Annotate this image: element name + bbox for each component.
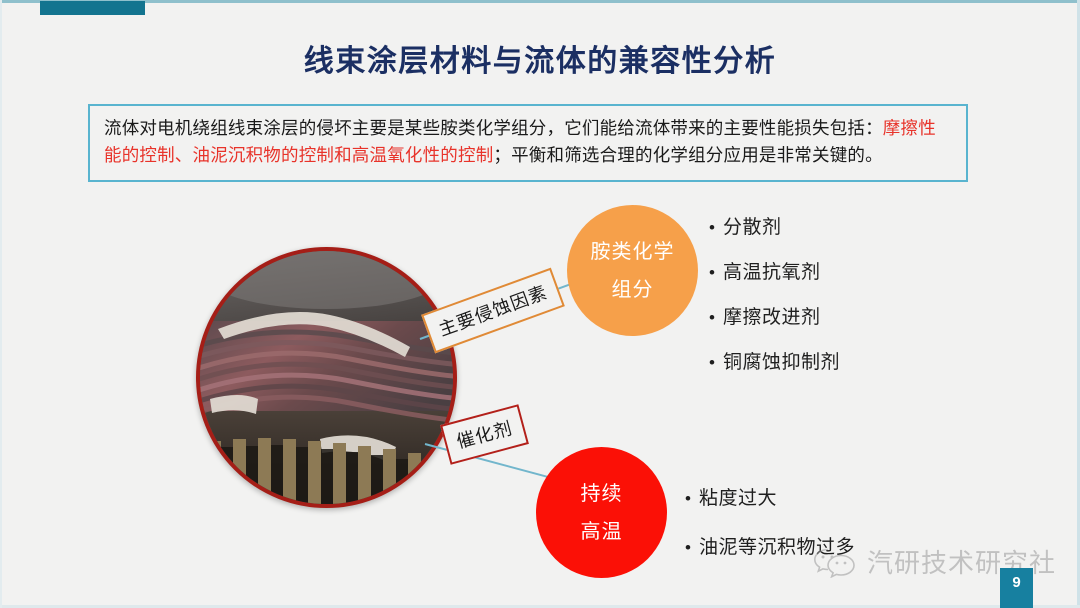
- winding-photo-graphic: [200, 251, 453, 504]
- label-catalyst: 催化剂: [440, 404, 529, 465]
- list-item-label: 粘度过大: [699, 483, 777, 510]
- left-border-rule: [0, 0, 2, 608]
- list-item-label: 铜腐蚀抑制剂: [723, 347, 840, 374]
- node-heat-line1: 持续: [581, 475, 623, 513]
- summary-callout-box: 流体对电机绕组线束涂层的侵坏主要是某些胺类化学组分，它们能给流体带来的主要性能损…: [88, 104, 968, 182]
- bullet-dot-icon: •: [685, 490, 699, 507]
- list-item: • 分散剂: [709, 212, 840, 239]
- bullet-dot-icon: •: [709, 264, 723, 281]
- page-number-badge: 9: [1000, 568, 1033, 608]
- node-heat-line2: 高温: [581, 513, 623, 551]
- node-amine-line1: 胺类化学: [591, 233, 675, 271]
- damaged-winding-photo: [196, 247, 457, 508]
- bullet-dot-icon: •: [709, 219, 723, 236]
- list-item: • 粘度过大: [685, 483, 855, 510]
- top-border-rule: [0, 0, 1080, 3]
- list-item-label: 分散剂: [723, 212, 782, 239]
- list-item: • 铜腐蚀抑制剂: [709, 347, 840, 374]
- callout-text-part2: ；平衡和筛选合理的化学组分应用是非常关键的。: [493, 145, 882, 165]
- wechat-icon: [812, 546, 858, 578]
- bullet-dot-icon: •: [709, 309, 723, 326]
- list-item-label: 高温抗氧剂: [723, 257, 821, 284]
- callout-text-part1: 流体对电机绕组线束涂层的侵坏主要是某些胺类化学组分，它们能给流体带来的主要性能损…: [104, 118, 883, 138]
- list-item: • 摩擦改进剂: [709, 302, 840, 329]
- label-main-erosion-factor: 主要侵蚀因素: [421, 268, 565, 354]
- bullet-dot-icon: •: [709, 354, 723, 371]
- list-item: • 高温抗氧剂: [709, 257, 840, 284]
- node-amine-line2: 组分: [612, 271, 654, 309]
- bullet-list-amine: • 分散剂 • 高温抗氧剂 • 摩擦改进剂 • 铜腐蚀抑制剂: [709, 212, 840, 374]
- bullet-dot-icon: •: [685, 539, 699, 556]
- node-amine-chemistry: 胺类化学 组分: [567, 205, 698, 336]
- page-title: 线束涂层材料与流体的兼容性分析: [0, 36, 1080, 80]
- header-tab-block: [40, 1, 145, 15]
- slide-canvas: 线束涂层材料与流体的兼容性分析 流体对电机绕组线束涂层的侵坏主要是某些胺类化学组…: [0, 0, 1080, 608]
- node-sustained-high-temperature: 持续 高温: [536, 447, 667, 578]
- list-item-label: 摩擦改进剂: [723, 302, 821, 329]
